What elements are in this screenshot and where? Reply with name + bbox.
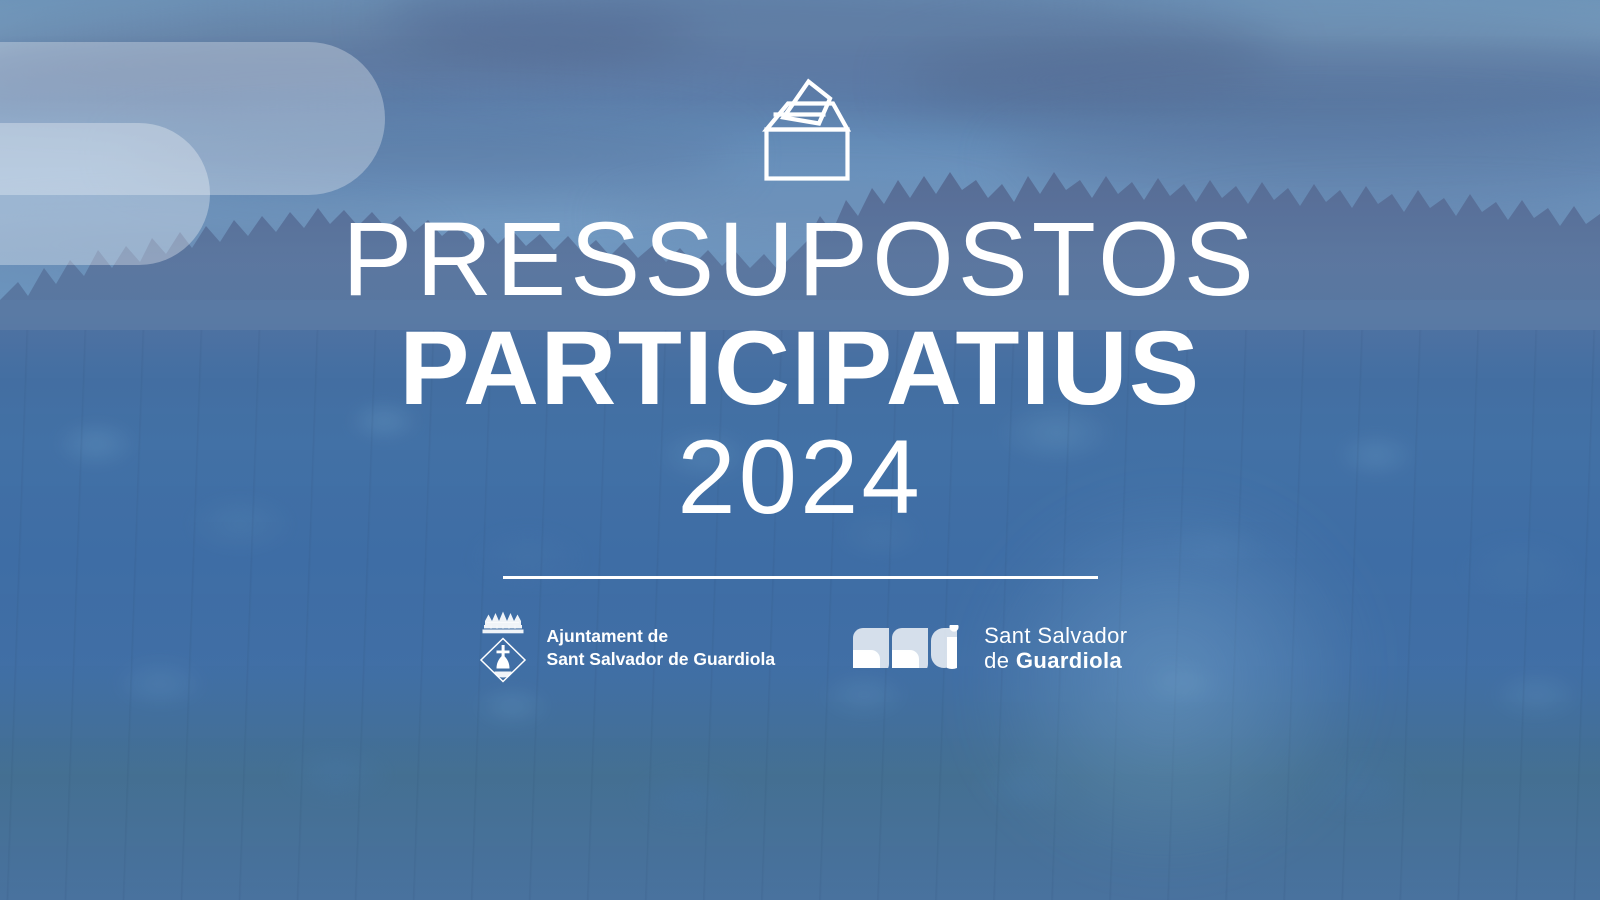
- ssg-logo-text: Sant Salvador de Guardiola: [984, 623, 1127, 673]
- page-title: PRESSUPOSTOS PARTICIPATIUS 2024: [342, 209, 1257, 530]
- ssg-line-2: de Guardiola: [984, 648, 1127, 673]
- ssg-line-2-bold: Guardiola: [1016, 648, 1122, 673]
- title-line-1: PRESSUPOSTOS: [342, 209, 1257, 312]
- ssg-monogram-icon: [853, 625, 971, 671]
- ajuntament-line-2: Sant Salvador de Guardiola: [547, 648, 776, 671]
- ajuntament-logo: Ajuntament de Sant Salvador de Guardiola: [473, 609, 776, 687]
- title-line-3: 2024: [342, 427, 1257, 530]
- title-line-2: PARTICIPATIUS: [342, 318, 1257, 421]
- poster-content: PRESSUPOSTOS PARTICIPATIUS 2024: [0, 0, 1600, 900]
- poster-canvas: PRESSUPOSTOS PARTICIPATIUS 2024: [0, 0, 1600, 900]
- ssg-line-1: Sant Salvador: [984, 623, 1127, 648]
- ssg-logo: Sant Salvador de Guardiola: [853, 623, 1127, 673]
- ssg-line-2-light: de: [984, 648, 1016, 673]
- ballot-box-icon: [745, 62, 855, 187]
- ajuntament-line-1: Ajuntament de: [547, 625, 776, 648]
- divider-rule: [503, 576, 1098, 579]
- logo-row: Ajuntament de Sant Salvador de Guardiola: [473, 609, 1128, 687]
- ajuntament-logo-text: Ajuntament de Sant Salvador de Guardiola: [547, 625, 776, 671]
- municipal-crest-icon: [473, 609, 533, 687]
